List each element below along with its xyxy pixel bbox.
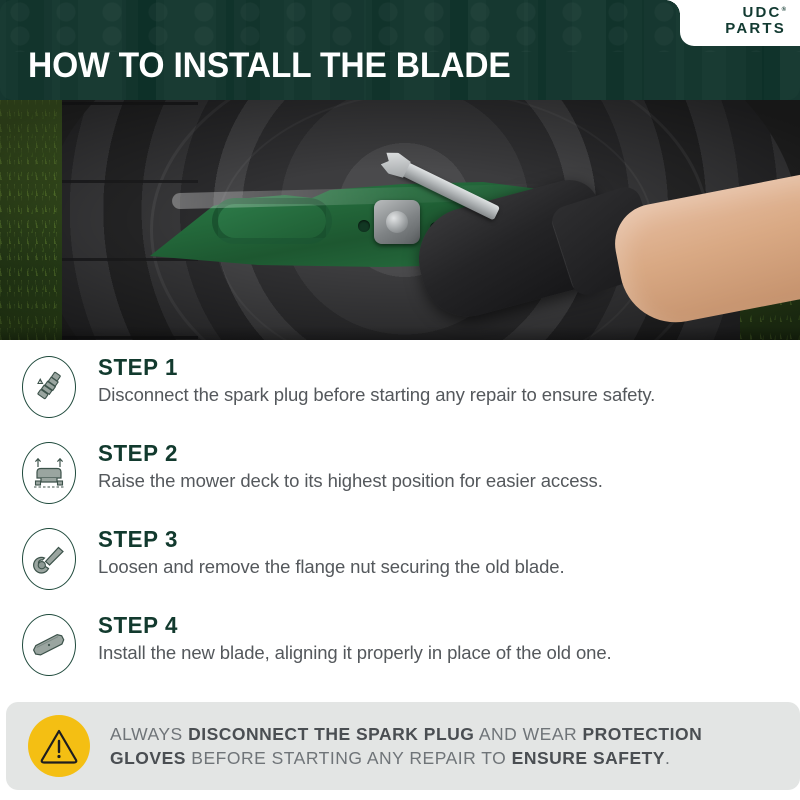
- step-title: STEP 1: [98, 354, 639, 380]
- logo-line-1: UDC®: [725, 5, 786, 21]
- step-description: Disconnect the spark plug before startin…: [98, 383, 655, 407]
- step-description: Install the new blade, aligning it prope…: [98, 641, 612, 665]
- blade-mounting-hub: [374, 200, 420, 244]
- hero-image: [0, 100, 800, 340]
- svg-text:!: !: [40, 379, 41, 384]
- step-title: STEP 2: [98, 440, 588, 466]
- list-item: STEP 4 Install the new blade, aligning i…: [0, 608, 800, 694]
- step-content: STEP 1 Disconnect the spark plug before …: [98, 350, 655, 408]
- spark-plug-icon: !: [22, 356, 76, 418]
- page-title: HOW TO INSTALL THE BLADE: [28, 46, 511, 86]
- step-description: Loosen and remove the flange nut securin…: [98, 555, 565, 579]
- brand-logo: UDC® PARTS: [725, 5, 786, 37]
- list-item: STEP 3 Loosen and remove the flange nut …: [0, 522, 800, 608]
- step-title: STEP 4: [98, 612, 596, 638]
- step-content: STEP 3 Loosen and remove the flange nut …: [98, 522, 565, 580]
- mower-blade-icon: [22, 614, 76, 676]
- mower-deck-raise-icon: [22, 442, 76, 504]
- step-content: STEP 4 Install the new blade, aligning i…: [98, 608, 612, 666]
- list-item: ! STEP 1 Disconnect the spark plug befor…: [0, 350, 800, 436]
- logo-line-2: PARTS: [725, 21, 786, 37]
- step-content: STEP 2 Raise the mower deck to its highe…: [98, 436, 603, 494]
- step-title: STEP 3: [98, 526, 551, 552]
- safety-warning-text: ALWAYS DISCONNECT THE SPARK PLUG AND WEA…: [110, 722, 780, 770]
- warning-triangle-icon: [28, 715, 90, 777]
- safety-warning-banner: ALWAYS DISCONNECT THE SPARK PLUG AND WEA…: [6, 702, 800, 790]
- header-banner: UDC® PARTS HOW TO INSTALL THE BLADE: [0, 0, 800, 100]
- hero-bottom-fade: [0, 326, 800, 340]
- blade-hole: [358, 220, 370, 232]
- registered-trademark-icon: ®: [782, 7, 786, 13]
- list-item: STEP 2 Raise the mower deck to its highe…: [0, 436, 800, 522]
- wrench-icon: [22, 528, 76, 590]
- step-description: Raise the mower deck to its highest posi…: [98, 469, 603, 493]
- steps-list: ! STEP 1 Disconnect the spark plug befor…: [0, 350, 800, 694]
